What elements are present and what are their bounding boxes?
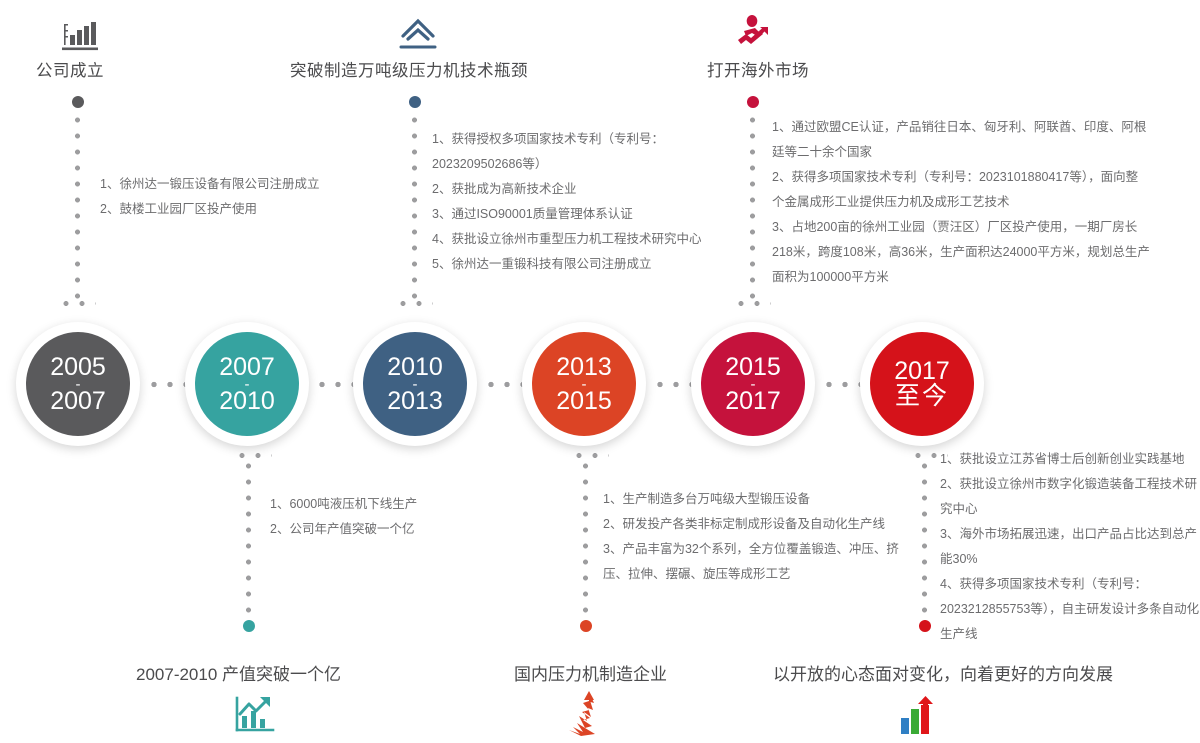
list-item: 3、海外市场拓展迅速，出口产品占比达到总产能30% — [940, 522, 1200, 572]
milestone-circle-inner-3: 2010 - 2013 — [363, 332, 467, 436]
connector-line-bottom-2 — [582, 458, 589, 630]
list-item: 2、公司年产值突破一个亿 — [270, 517, 570, 542]
connector-line-top-1 — [74, 96, 81, 306]
top-marker-title-3: 打开海外市场 — [707, 57, 809, 81]
milestone-year-start: 2017 — [894, 359, 950, 384]
milestone-circle-inner-2: 2007 - 2010 — [195, 332, 299, 436]
milestone-circle-3[interactable]: 2010 - 2013 — [353, 322, 477, 446]
top-marker-text-2: 1、获得授权多项国家技术专利（专利号：2023209502686等） 2、获批成… — [432, 127, 750, 277]
milestone-circle-6[interactable]: 2017 至今 — [860, 322, 984, 446]
marker-dot-bottom-2 — [580, 620, 592, 632]
connector-line-bottom-3 — [921, 458, 928, 630]
growth-chart-arrow-icon — [230, 692, 278, 738]
running-person-arrow-icon — [733, 12, 779, 52]
bottom-marker-text-2: 1、生产制造多台万吨级大型锻压设备 2、研发投产各类非标定制成形设备及自动化生产… — [603, 487, 913, 587]
dotted-segment — [74, 96, 81, 306]
dotted-segment — [582, 458, 589, 630]
rising-zigzag-arrow-icon — [565, 690, 613, 736]
milestone-circle-inner-1: 2005 - 2007 — [26, 332, 130, 436]
list-item: 3、产品丰富为32个系列，全方位覆盖锻造、冲压、挤压、拉伸、摆碾、旋压等成形工艺 — [603, 537, 913, 587]
marker-dot-bottom-3 — [919, 620, 931, 632]
bottom-marker-text-1: 1、6000吨液压机下线生产 2、公司年产值突破一个亿 — [270, 492, 570, 542]
milestone-year-end: 2017 — [725, 389, 781, 414]
connector-elbow-top-2 — [395, 300, 433, 307]
list-item: 1、6000吨液压机下线生产 — [270, 492, 570, 517]
list-item: 2、获得多项国家技术专利（专利号：2023101880417等），面向整个金属成… — [772, 165, 1150, 215]
dotted-segment — [245, 458, 252, 630]
top-marker-text-3: 1、通过欧盟CE认证，产品销往日本、匈牙利、阿联酋、印度、阿根廷等二十余个国家 … — [772, 115, 1150, 290]
top-marker-title-2: 突破制造万吨级压力机技术瓶颈 — [290, 57, 528, 81]
milestone-circle-4[interactable]: 2013 - 2015 — [522, 322, 646, 446]
milestone-year-end: 2015 — [556, 389, 612, 414]
milestone-year-end: 2013 — [387, 389, 443, 414]
dotted-segment — [921, 458, 928, 630]
milestone-circle-1[interactable]: 2005 - 2007 — [16, 322, 140, 446]
list-item: 4、获批设立徐州市重型压力机工程技术研究中心 — [432, 227, 750, 252]
connector-line-top-3 — [749, 96, 756, 306]
milestone-circle-5[interactable]: 2015 - 2017 — [691, 322, 815, 446]
dotted-segment — [749, 96, 756, 306]
marker-dot-top-2 — [409, 96, 421, 108]
list-item: 3、通过ISO90001质量管理体系认证 — [432, 202, 750, 227]
circle-link-dots-1 — [146, 381, 188, 388]
list-item: 1、通过欧盟CE认证，产品销往日本、匈牙利、阿联酋、印度、阿根廷等二十余个国家 — [772, 115, 1150, 165]
connector-line-bottom-1 — [245, 458, 252, 630]
circle-link-dots-2 — [314, 381, 356, 388]
bottom-caption-3: 以开放的心态面对变化，向着更好的方向发展 — [773, 660, 1113, 685]
circle-link-dots-5 — [821, 381, 863, 388]
mountain-peak-icon — [395, 14, 441, 54]
bottom-caption-1: 2007-2010 产值突破一个亿 — [136, 660, 341, 685]
list-item: 2、研发投产各类非标定制成形设备及自动化生产线 — [603, 512, 913, 537]
top-marker-title-1: 公司成立 — [36, 57, 104, 81]
list-item: 2、获批设立徐州市数字化锻造装备工程技术研究中心 — [940, 472, 1200, 522]
list-item: 1、获得授权多项国家技术专利（专利号：2023209502686等） — [432, 127, 750, 177]
colored-bars-up-arrow-icon — [893, 692, 941, 738]
milestone-circle-2[interactable]: 2007 - 2010 — [185, 322, 309, 446]
milestone-circle-inner-6: 2017 至今 — [870, 332, 974, 436]
bottom-marker-text-3: 1、获批设立江苏省博士后创新创业实践基地 2、获批设立徐州市数字化锻造装备工程技… — [940, 447, 1200, 647]
marker-dot-top-3 — [747, 96, 759, 108]
list-item: 2、获批成为高新技术企业 — [432, 177, 750, 202]
timeline-infographic: 公司成立 1、徐州达一锻压设备有限公司注册成立 2、鼓楼工业园厂区投产使用 突破… — [0, 0, 1200, 738]
list-item: 1、获批设立江苏省博士后创新创业实践基地 — [940, 447, 1200, 472]
milestone-circle-inner-5: 2015 - 2017 — [701, 332, 805, 436]
marker-dot-top-1 — [72, 96, 84, 108]
list-item: 1、徐州达一锻压设备有限公司注册成立 — [100, 172, 390, 197]
marker-dot-bottom-1 — [243, 620, 255, 632]
connector-elbow-top-1 — [58, 300, 96, 307]
connector-line-top-2 — [411, 96, 418, 306]
top-marker-text-1: 1、徐州达一锻压设备有限公司注册成立 2、鼓楼工业园厂区投产使用 — [100, 172, 390, 222]
list-item: 1、生产制造多台万吨级大型锻压设备 — [603, 487, 913, 512]
connector-elbow-bottom-2 — [571, 452, 609, 459]
connector-elbow-top-3 — [733, 300, 771, 307]
list-item: 5、徐州达一重锻科技有限公司注册成立 — [432, 252, 750, 277]
milestone-year-end: 至今 — [895, 384, 949, 409]
milestone-year-end: 2010 — [219, 389, 275, 414]
milestone-circle-inner-4: 2013 - 2015 — [532, 332, 636, 436]
list-item: 3、占地200亩的徐州工业园（贾汪区）厂区投产使用，一期厂房长218米，跨度10… — [772, 215, 1150, 290]
list-item: 4、获得多项国家技术专利（专利号：2023212855753等），自主研发设计多… — [940, 572, 1200, 647]
bar-chart-icon — [58, 18, 104, 58]
milestone-year-end: 2007 — [50, 389, 106, 414]
connector-elbow-bottom-1 — [234, 452, 272, 459]
circle-link-dots-4 — [652, 381, 694, 388]
circle-link-dots-3 — [483, 381, 525, 388]
list-item: 2、鼓楼工业园厂区投产使用 — [100, 197, 390, 222]
bottom-caption-2: 国内压力机制造企业 — [514, 660, 667, 685]
dotted-segment — [411, 96, 418, 306]
